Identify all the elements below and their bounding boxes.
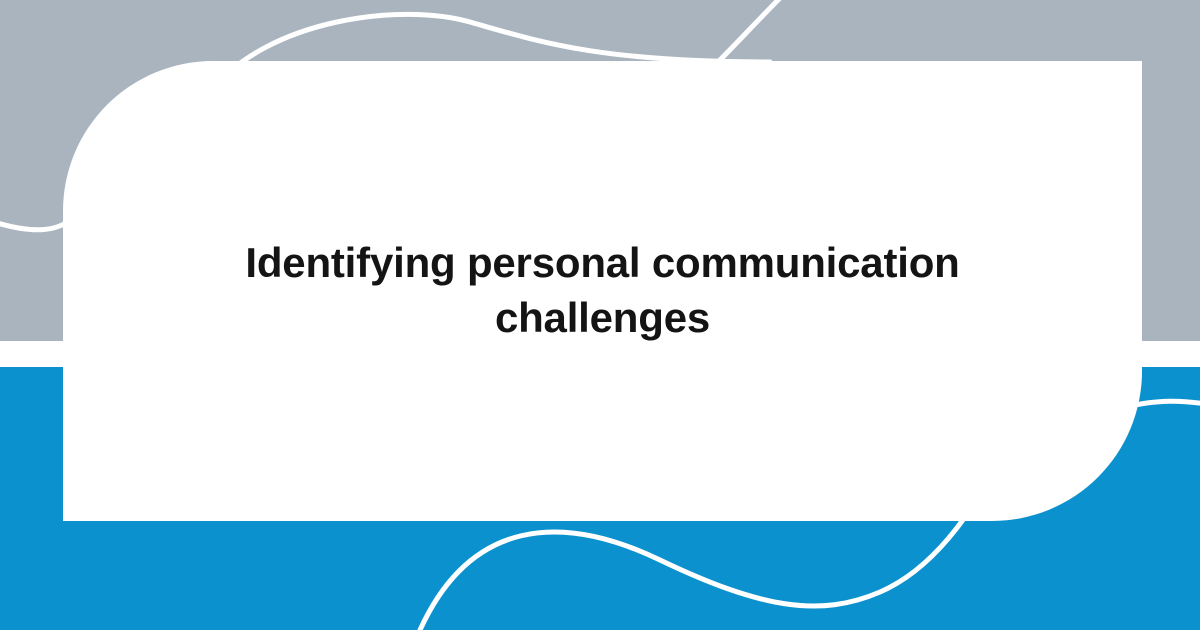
title-container: Identifying personal communicationchalle… xyxy=(63,61,1142,521)
page-title-line-1: Identifying personal communication xyxy=(245,239,959,286)
page-title-line-2: challenges xyxy=(495,294,710,341)
social-card-canvas: Identifying personal communicationchalle… xyxy=(0,0,1200,630)
page-title: Identifying personal communicationchalle… xyxy=(245,236,959,345)
